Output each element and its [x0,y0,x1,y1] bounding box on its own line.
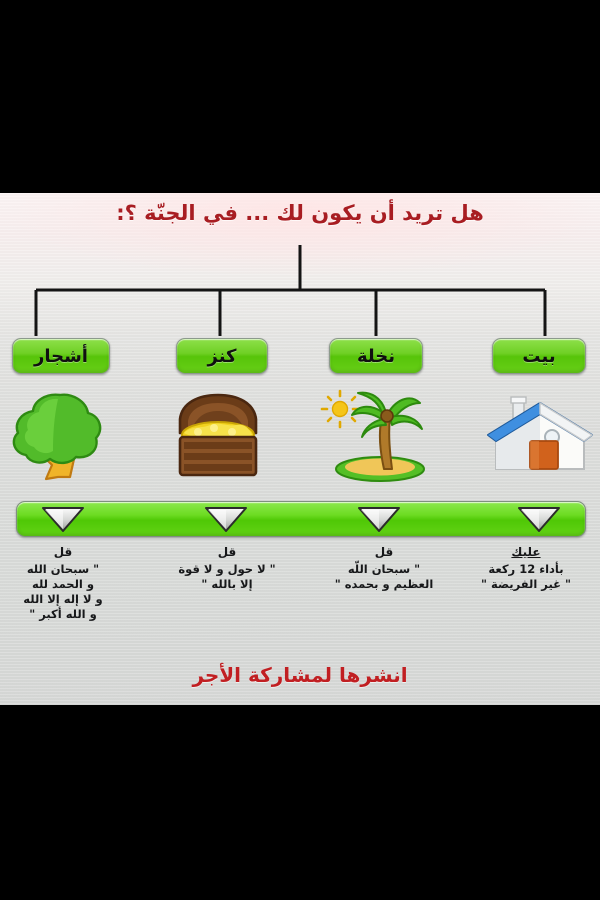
reward-head: قل [152,545,302,561]
reward-block-nakhla: قل " سبحان اللّه العظيم و بحمده " [308,545,460,592]
reward-line: " لا حول و لا قوة [152,562,302,577]
tree-icon [0,385,120,485]
reward-line: بأداء 12 ركعة [452,562,600,577]
branch-button-bayt[interactable]: بيت [492,338,586,374]
reward-line: " سبحان الله [0,562,128,577]
reward-line: و لا إله إلا الله [0,592,128,607]
palm-tree-icon [318,385,438,485]
reward-head: عليك [452,545,600,561]
reward-head: قل [0,545,128,561]
reward-head: قل [308,545,460,561]
branch-button-kanz[interactable]: كنز [176,338,268,374]
reward-block-ashjar: قل " سبحان الله و الحمد لله و لا إله إلا… [0,545,128,623]
house-icon [480,385,600,485]
triangle-down-icon [517,506,561,532]
triangle-down-icon [204,506,248,532]
letterbox-bottom [0,705,600,900]
branch-label-row: أشجار كنز نخلة بيت [0,338,600,382]
footer-cta: انشرها لمشاركة الأجر [0,663,600,687]
green-arrow-bar [16,501,586,537]
reward-text-row: قل " سبحان الله و الحمد لله و لا إله إلا… [0,545,600,655]
infographic-canvas: هل تريد أن يكون لك ... في الجنّة ؟: أشجا… [0,193,600,705]
branch-button-ashjar[interactable]: أشجار [12,338,110,374]
reward-line: " غير الفريضة " [452,577,600,592]
reward-line: و الله أكبر " [0,607,128,622]
treasure-chest-icon [158,385,278,485]
page-title: هل تريد أن يكون لك ... في الجنّة ؟: [0,201,600,225]
triangle-down-icon [41,506,85,532]
reward-block-bayt: عليك بأداء 12 ركعة " غير الفريضة " [452,545,600,592]
poster-root: هل تريد أن يكون لك ... في الجنّة ؟: أشجا… [0,0,600,900]
reward-line: و الحمد لله [0,577,128,592]
illustration-row [0,385,600,493]
reward-line: العظيم و بحمده " [308,577,460,592]
reward-line: " سبحان اللّه [308,562,460,577]
reward-block-kanz: قل " لا حول و لا قوة إلا بالله " [152,545,302,592]
branch-button-nakhla[interactable]: نخلة [329,338,423,374]
reward-line: إلا بالله " [152,577,302,592]
letterbox-top [0,0,600,193]
triangle-down-icon [357,506,401,532]
